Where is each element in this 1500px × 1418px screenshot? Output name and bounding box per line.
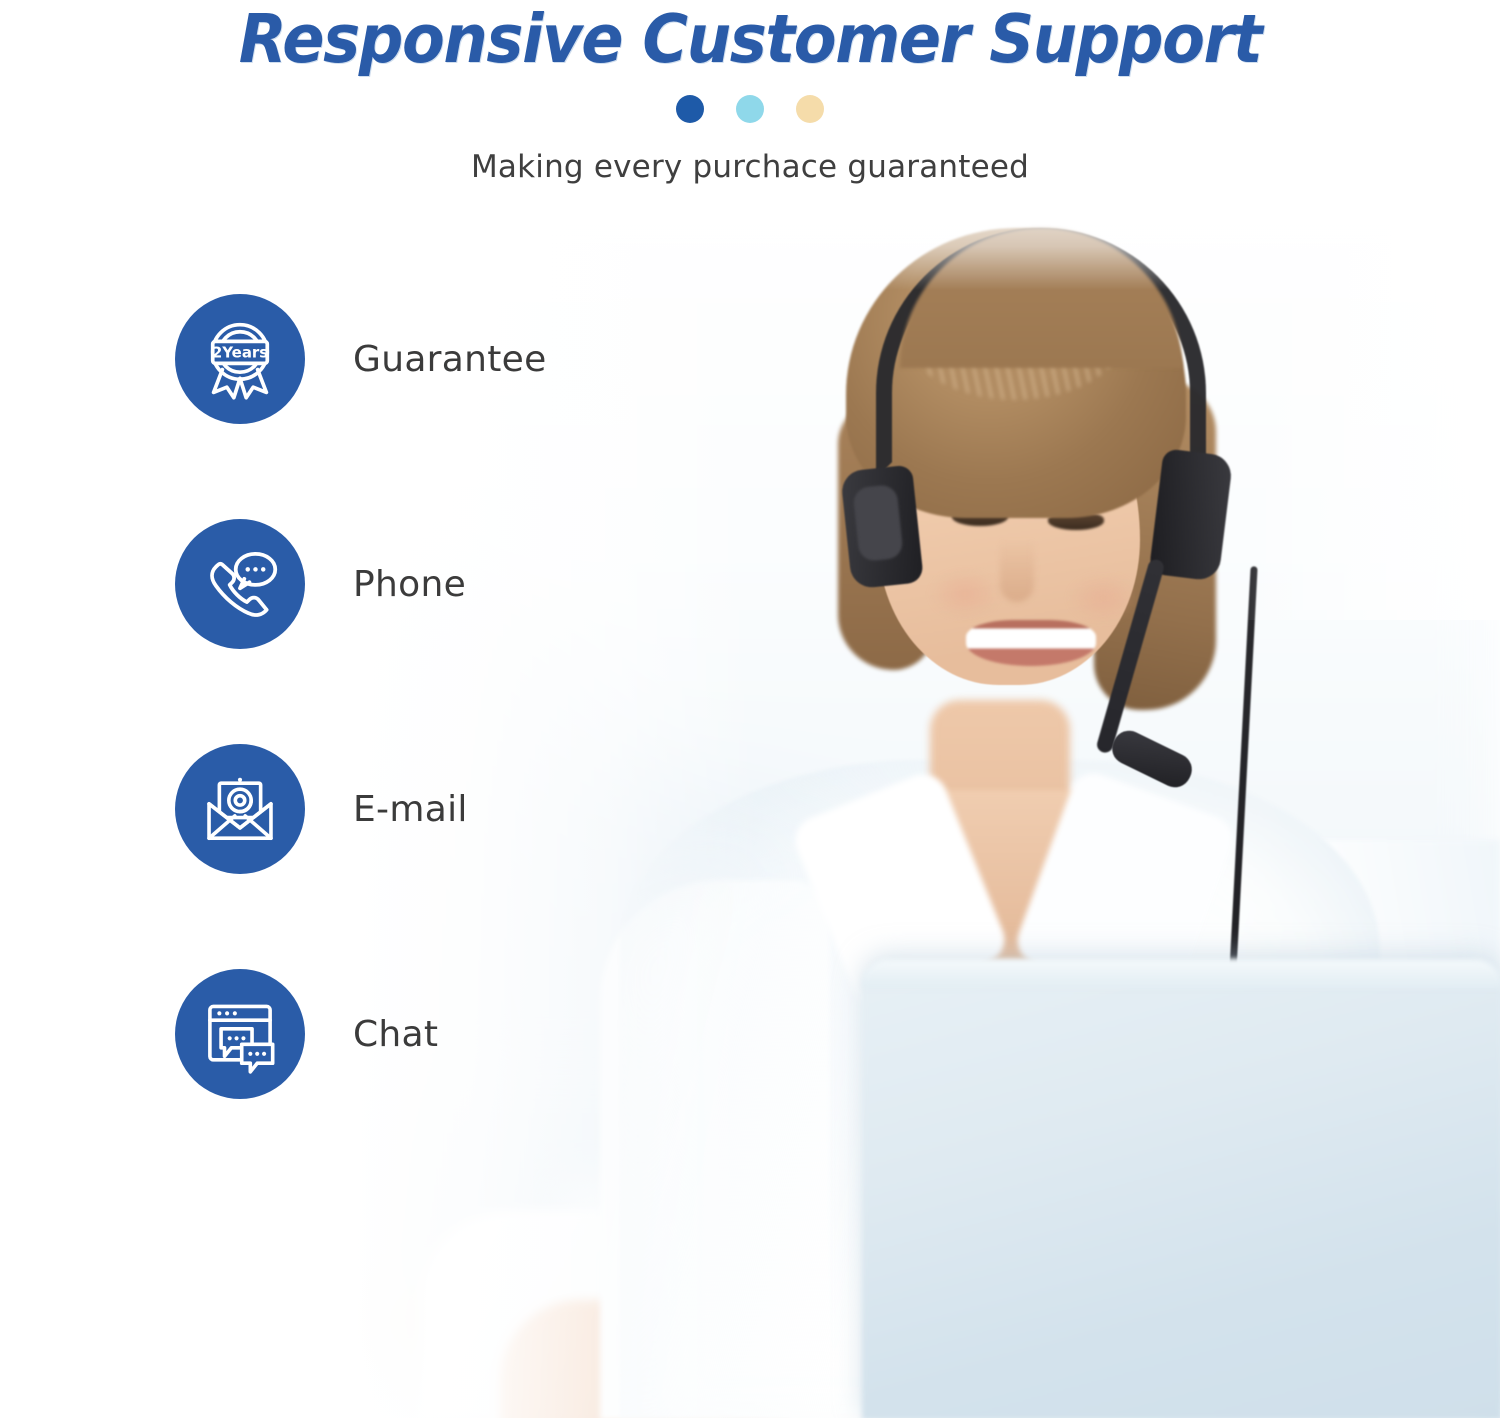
chat-window-icon (175, 969, 305, 1099)
dot-tan (796, 95, 824, 123)
headset-earcup-pad (852, 484, 903, 562)
decorative-dots (0, 95, 1500, 123)
feature-guarantee: 2Years Guarantee (175, 294, 547, 424)
guarantee-badge-icon: 2Years (175, 294, 305, 424)
feature-phone: Phone (175, 519, 547, 649)
agent-cheek-left (930, 570, 1000, 618)
agent-smile (966, 620, 1096, 666)
feature-chat: Chat (175, 969, 547, 1099)
laptop-top-edge (862, 960, 1500, 988)
support-banner: Responsive Customer Support Making every… (0, 0, 1500, 1418)
page-title: Responsive Customer Support (53, 0, 1448, 73)
phone-chat-icon (175, 519, 305, 649)
page-subtitle: Making every purchace guaranteed (0, 149, 1500, 185)
feature-label-guarantee: Guarantee (353, 339, 547, 380)
dot-blue (676, 95, 704, 123)
feature-label-email: E-mail (353, 789, 468, 830)
feature-email: E-mail (175, 744, 547, 874)
feature-label-phone: Phone (353, 564, 466, 605)
agent-cheek-right (1068, 574, 1138, 622)
email-envelope-icon (175, 744, 305, 874)
laptop-screen-back (862, 960, 1500, 1418)
support-channel-list: 2Years Guarantee Phone (175, 294, 547, 1099)
dot-cyan (736, 95, 764, 123)
svg-text:2Years: 2Years (212, 344, 268, 362)
agent-nose (1000, 540, 1034, 602)
feature-label-chat: Chat (353, 1014, 438, 1055)
banner-header: Responsive Customer Support Making every… (0, 0, 1500, 185)
